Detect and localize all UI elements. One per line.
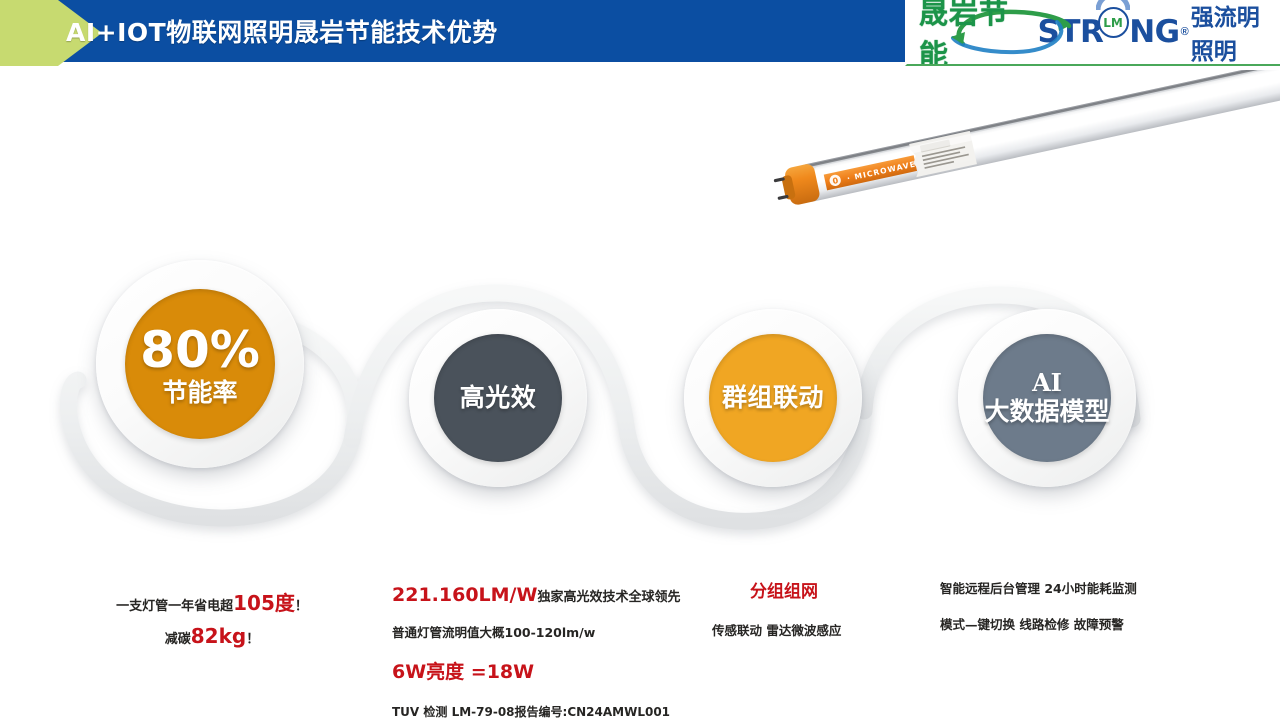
wordmark-right: NG [1129,14,1179,50]
node-disc: 群组联动 [709,334,837,462]
caption-line: 6W亮度 =18W [392,660,680,684]
registered-trademark-icon: ® [1181,26,1189,38]
brand-name-cn2: 强流明照明 [1191,0,1280,66]
node-disc: AI 大数据模型 [983,334,1111,462]
brand-name-cn: 晟岩节能 [919,0,1028,66]
node-label: 高光效 [460,384,537,412]
caption-line: 221.160LM/W独家高光效技术全球领先 [392,583,680,610]
caption-line: TUV 检测 LM-79-08报告编号:CN24AMWL001 [392,701,680,720]
caption-line: 普通灯管流明值大概100-120lm/w [392,621,680,645]
caption-line: 减碳82kg！ [112,624,312,652]
caption-ai-big-data: 智能远程后台管理 24小时能耗监测 模式—键切换 线路检修 故障预警 [940,578,1137,636]
caption-text: 减碳 [165,632,191,647]
node-disc: 高光效 [434,334,562,462]
caption-line: 一支灯管一年省电超105度！ [112,592,312,618]
caption-line: 模式—键切换 线路检修 故障预警 [940,614,1137,636]
wordmark-lm-badge: LM [1098,7,1129,38]
feature-node-energy-saving[interactable]: 80% 节能率 [96,260,304,468]
brand-logo: 晟岩节能 STR O LM NG ® 强流明照明 [905,0,1280,66]
caption-line: 分组组网 [750,580,841,604]
caption-suffix: ！ [295,599,308,614]
caption-energy-saving: 一支灯管一年省电超105度！ 减碳82kg！ [112,592,312,652]
feature-node-ai-big-data[interactable]: AI 大数据模型 [958,309,1136,487]
caption-number: 221.160LM/W [392,584,537,606]
caption-number: 105度 [233,591,295,615]
feature-node-group-linkage[interactable]: 群组联动 [684,309,862,487]
caption-text: 一支灯管一年省电超 [116,599,233,614]
caption-high-efficiency: 221.160LM/W独家高光效技术全球领先 普通灯管流明值大概100-120l… [392,583,680,720]
page-title: AI+IOT物联网照明晟岩节能技术优势 [66,0,498,62]
caption-line: 传感联动 雷达微波感应 [712,620,841,642]
caption-text: 独家高光效技术全球领先 [537,590,680,605]
caption-group-linkage: 分组组网 传感联动 雷达微波感应 [712,580,841,642]
feature-node-high-efficiency[interactable]: 高光效 [409,309,587,487]
slide-root: AI+IOT物联网照明晟岩节能技术优势 晟岩节能 STR O LM NG ® 强… [0,0,1280,720]
node-disc: 80% 节能率 [125,289,275,439]
caption-suffix: ！ [246,632,259,647]
node-label-bigdata: 大数据模型 [984,398,1109,426]
node-sub-label: 节能率 [162,379,237,407]
node-label: 群组联动 [722,384,824,412]
caption-line: 智能远程后台管理 24小时能耗监测 [940,578,1137,600]
node-big-value: 80% [140,322,260,378]
node-label-ai: AI [1032,370,1062,397]
product-image-led-tube: 0 · MICROWAVE [740,70,1280,220]
caption-number: 82kg [191,624,246,648]
